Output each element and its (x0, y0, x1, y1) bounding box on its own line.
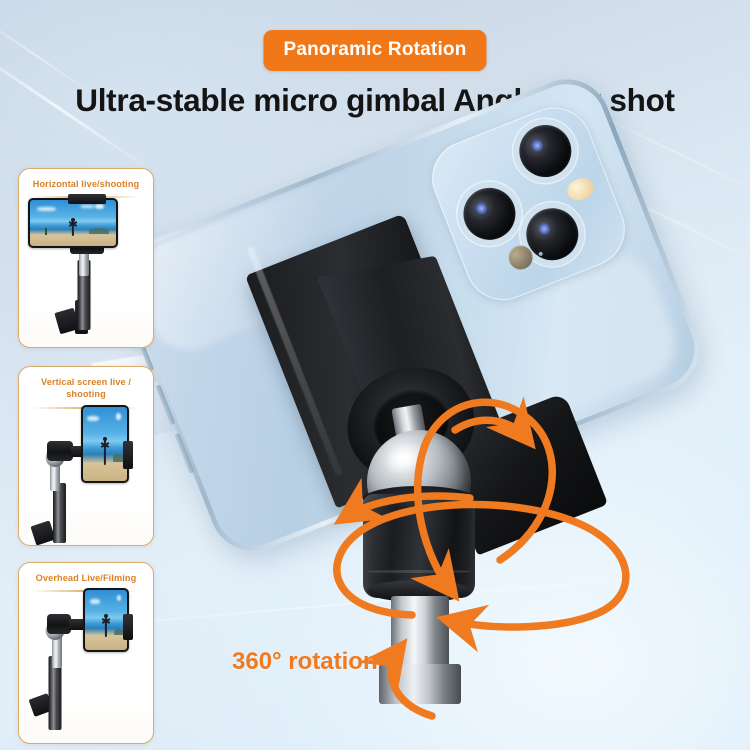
feature-card-label: Overhead Live/Filming (19, 563, 153, 584)
phone-portrait (81, 405, 129, 483)
rotation-label: 360° rotation (232, 648, 378, 676)
panoramic-rotation-badge: Panoramic Rotation (263, 30, 486, 71)
feature-card-overhead[interactable]: Overhead Live/Filming (18, 562, 154, 744)
clamp-body (47, 614, 71, 634)
cloud-icon (87, 416, 98, 421)
feature-card-image (19, 409, 153, 545)
island-shape (89, 228, 110, 234)
phone-landscape (28, 198, 118, 248)
feature-card-image (19, 592, 153, 730)
feature-card-vertical[interactable]: Vertical screen live / shooting (18, 366, 154, 546)
feature-card-horizontal[interactable]: Horizontal live/shooting (18, 168, 154, 348)
clamp-top-jaw (68, 194, 106, 204)
page-title: Ultra-stable micro gimbal Angle any shot (0, 82, 750, 119)
sun-icon (95, 204, 104, 209)
camera-flash-icon (564, 175, 597, 204)
feature-card-image (19, 198, 153, 334)
camera-lens-icon (512, 117, 579, 184)
sun-icon (116, 413, 120, 420)
clamp-body (47, 441, 73, 461)
person-silhouette (104, 614, 108, 618)
clamp-side-jaw (123, 614, 133, 640)
clamp-side-jaw (123, 441, 133, 469)
cloud-icon (37, 207, 56, 211)
screen-scene-beach (83, 407, 127, 481)
cloud-icon (90, 599, 100, 604)
person-silhouette (103, 437, 107, 441)
telescoping-chrome-pole-section (379, 664, 461, 704)
palm-tree-icon (45, 228, 47, 235)
feature-card-label: Horizontal live/shooting (19, 169, 153, 190)
sun-icon (117, 595, 121, 601)
product-feature-image: Panoramic Rotation Ultra-stable micro gi… (0, 0, 750, 750)
tripod-foot (30, 520, 55, 545)
gimbal-mount (255, 218, 585, 548)
feature-card-label: Vertical screen live / shooting (19, 367, 153, 401)
cloud-icon (80, 205, 95, 209)
screen-scene-beach (85, 590, 127, 650)
selfie-stick-pole (53, 483, 66, 543)
screen-scene-beach (30, 200, 116, 246)
collar-seam (367, 570, 471, 573)
